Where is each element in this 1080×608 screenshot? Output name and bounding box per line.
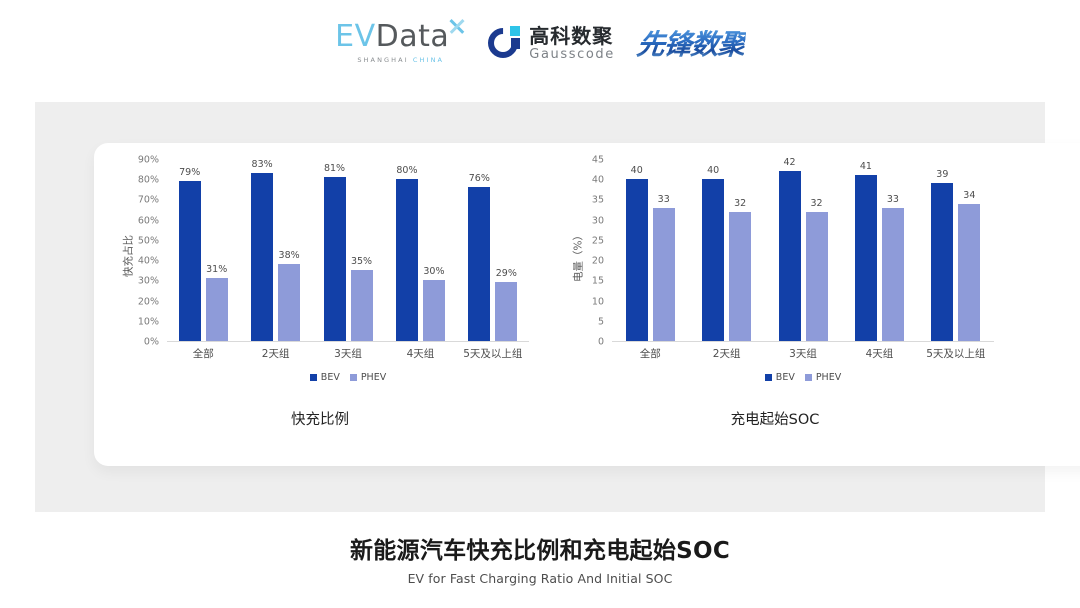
evdata-tagline-shanghai: SHANGHAI [357,56,408,64]
bar-group: 4232 [765,160,841,341]
y-tick-label: 80% [138,175,159,186]
bar-group: 79%31% [167,160,239,341]
bar-bev[interactable]: 40 [702,160,724,341]
bar-phev[interactable]: 31% [206,160,228,341]
bar-rect [855,175,877,341]
y-tick-label: 0% [144,337,159,348]
y-tick-label: 60% [138,215,159,226]
chart-fast-charging-ratio: 快充占比 0%10%20%30%40%50%60%70%80%90% 79%31… [105,160,535,430]
bar-bev[interactable]: 40 [626,160,648,341]
legend-swatch-icon [765,374,772,381]
gausscode-c-mark-icon [488,26,522,60]
bar-bev[interactable]: 39 [931,160,953,341]
bar-rect [251,173,273,341]
slide-page: EV Data SHANGHAI CHINA 高科数聚 Gausscode 先锋… [0,0,1080,608]
bar-rect [626,179,648,341]
bar-phev[interactable]: 33 [882,160,904,341]
y-tick-label: 30 [592,215,604,226]
legend-label: BEV [321,372,340,383]
x-mark-icon [446,16,466,36]
chart-title-left: 快充比例 [105,408,535,429]
y-tick-label: 10% [138,316,159,327]
y-tick-label: 45 [592,155,604,166]
bar-value-label: 40 [707,165,719,176]
bar-rect [779,171,801,341]
bar-group: 4133 [841,160,917,341]
x-axis-labels-left: 全部2天组3天组4天组5天及以上组 [167,346,529,361]
legend-swatch-icon [310,374,317,381]
chart-title-right: 充电起始SOC [550,408,1000,429]
y-tick-label: 5 [598,316,604,327]
y-tick-label: 20% [138,296,159,307]
bar-bev[interactable]: 42 [779,160,801,341]
bar-phev[interactable]: 38% [278,160,300,341]
bar-rect [882,208,904,341]
x-axis-labels-right: 全部2天组3天组4天组5天及以上组 [612,346,994,361]
bar-rect [931,183,953,341]
x-tick-label: 5天及以上组 [457,346,529,361]
y-tick-label: 90% [138,155,159,166]
evdata-tagline-china: CHINA [413,56,444,64]
bar-group: 81%35% [312,160,384,341]
bar-value-label: 42 [783,157,795,168]
bar-groups-left: 79%31%83%38%81%35%80%30%76%29% [167,160,529,341]
bar-rect [495,282,517,341]
legend-label: BEV [776,372,795,383]
legend-item-bev[interactable]: BEV [765,372,795,383]
x-tick-label: 2天组 [688,346,764,361]
bar-value-label: 33 [658,194,670,205]
gausscode-logo: 高科数聚 Gausscode [488,26,615,61]
footer-title-en: EV for Fast Charging Ratio And Initial S… [0,571,1080,586]
bar-value-label: 35% [351,256,372,267]
bar-phev[interactable]: 35% [351,160,373,341]
y-tick-label: 40% [138,256,159,267]
bar-value-label: 32 [734,198,746,209]
evdata-ev-text: EV [335,22,375,52]
bar-value-label: 41 [860,161,872,172]
bar-phev[interactable]: 34 [958,160,980,341]
x-tick-label: 5天及以上组 [918,346,994,361]
bar-rect [653,208,675,341]
bar-bev[interactable]: 41 [855,160,877,341]
bar-rect [958,204,980,342]
legend-right: BEVPHEV [612,372,994,383]
xianfeng-logo: 先锋数聚 [637,23,745,63]
bar-rect [351,270,373,341]
plot-area-left: 快充占比 0%10%20%30%40%50%60%70%80%90% 79%31… [105,160,535,352]
y-tick-label: 50% [138,235,159,246]
bar-rect [702,179,724,341]
x-tick-label: 3天组 [765,346,841,361]
gausscode-en-text: Gausscode [529,48,615,61]
y-tick-label: 35 [592,195,604,206]
bar-value-label: 80% [396,165,417,176]
bar-group: 4032 [688,160,764,341]
x-tick-label: 4天组 [384,346,456,361]
xianfeng-cn-text: 先锋数聚 [635,23,747,63]
bar-rect [806,212,828,341]
x-tick-label: 3天组 [312,346,384,361]
legend-swatch-icon [350,374,357,381]
legend-item-phev[interactable]: PHEV [805,372,841,383]
y-tick-label: 70% [138,195,159,206]
bar-rect [278,264,300,341]
gausscode-cn-text: 高科数聚 [529,26,615,46]
y-axis-ticks-left: 0%10%20%30%40%50%60%70%80%90% [123,160,163,342]
bar-bev[interactable]: 79% [179,160,201,341]
bar-value-label: 79% [179,167,200,178]
bar-value-label: 30% [423,266,444,277]
x-tick-label: 全部 [167,346,239,361]
bar-phev[interactable]: 30% [423,160,445,341]
bar-phev[interactable]: 33 [653,160,675,341]
y-tick-label: 30% [138,276,159,287]
bar-group: 4033 [612,160,688,341]
bar-value-label: 32 [810,198,822,209]
plot-area-right: 电量（%） 051015202530354045 403340324232413… [550,160,1000,352]
bar-value-label: 40 [631,165,643,176]
y-tick-label: 20 [592,256,604,267]
y-tick-label: 25 [592,235,604,246]
bar-rect [729,212,751,341]
y-tick-label: 10 [592,296,604,307]
x-tick-label: 2天组 [239,346,311,361]
bar-rect [423,280,445,341]
bar-value-label: 76% [469,173,490,184]
bar-value-label: 33 [887,194,899,205]
chart-initial-soc: 电量（%） 051015202530354045 403340324232413… [550,160,1000,430]
bar-value-label: 81% [324,163,345,174]
x-axis-line-left [167,341,529,342]
legend-item-phev[interactable]: PHEV [350,372,386,383]
bar-phev[interactable]: 29% [495,160,517,341]
evdata-data-text: Data [376,22,450,52]
x-tick-label: 全部 [612,346,688,361]
bar-value-label: 38% [279,250,300,261]
y-tick-label: 0 [598,337,604,348]
bar-bev[interactable]: 83% [251,160,273,341]
bar-bev[interactable]: 76% [468,160,490,341]
evdata-tagline: SHANGHAI CHINA [357,56,444,64]
evdata-logo: EV Data SHANGHAI CHINA [335,22,466,64]
footer-title-cn: 新能源汽车快充比例和充电起始SOC [0,531,1080,565]
bar-rect [179,181,201,341]
bar-groups-right: 40334032423241333934 [612,160,994,341]
logo-bar: EV Data SHANGHAI CHINA 高科数聚 Gausscode 先锋… [0,22,1080,64]
legend-label: PHEV [361,372,386,383]
legend-swatch-icon [805,374,812,381]
x-tick-label: 4天组 [841,346,917,361]
bar-value-label: 34 [963,190,975,201]
axis-area-right: 40334032423241333934 [612,160,994,342]
bar-rect [396,179,418,341]
legend-label: PHEV [816,372,841,383]
bar-value-label: 29% [496,268,517,279]
bar-group: 80%30% [384,160,456,341]
bar-rect [324,177,346,341]
bar-phev[interactable]: 32 [729,160,751,341]
bar-bev[interactable]: 80% [396,160,418,341]
bar-rect [468,187,490,341]
bar-group: 83%38% [239,160,311,341]
bar-phev[interactable]: 32 [806,160,828,341]
bar-rect [206,278,228,341]
y-tick-label: 40 [592,175,604,186]
bar-group: 3934 [918,160,994,341]
legend-left: BEVPHEV [167,372,529,383]
bar-bev[interactable]: 81% [324,160,346,341]
bar-value-label: 83% [252,159,273,170]
y-axis-ticks-right: 051015202530354045 [568,160,608,342]
axis-area-left: 79%31%83%38%81%35%80%30%76%29% [167,160,529,342]
footer: 新能源汽车快充比例和充电起始SOC EV for Fast Charging R… [0,531,1080,586]
y-tick-label: 15 [592,276,604,287]
x-axis-line-right [612,341,994,342]
legend-item-bev[interactable]: BEV [310,372,340,383]
bar-value-label: 31% [206,264,227,275]
bar-group: 76%29% [457,160,529,341]
bar-value-label: 39 [936,169,948,180]
